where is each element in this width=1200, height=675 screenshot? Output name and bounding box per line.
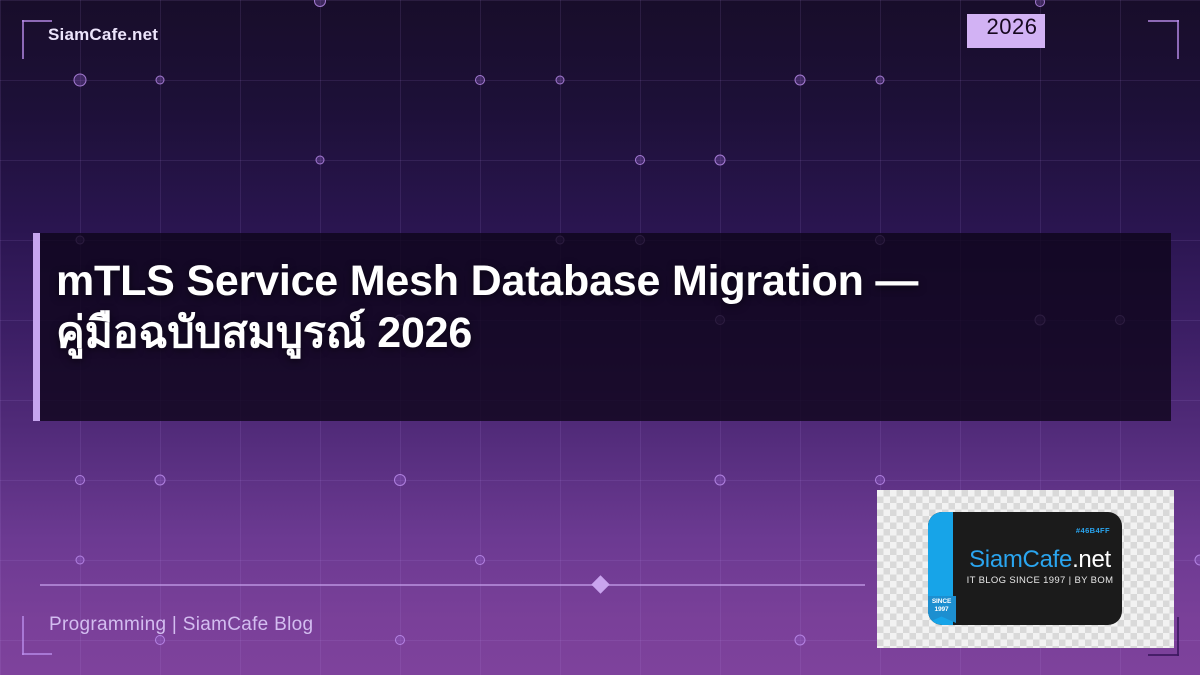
grid-node-dot — [715, 475, 726, 486]
footer-divider — [40, 584, 865, 586]
logo-tagline: IT BLOG SINCE 1997 | BY BOM — [961, 575, 1119, 586]
grid-node-dot — [475, 555, 485, 565]
logo-card: SINCE 1997 #46B4FF SiamCafe.net IT BLOG … — [877, 490, 1174, 648]
logo-wordmark-primary: SiamCafe — [969, 546, 1072, 573]
grid-node-dot — [715, 155, 726, 166]
grid-node-dot — [155, 475, 166, 486]
grid-node-dot — [475, 75, 485, 85]
brand-name: SiamCafe.net — [48, 25, 158, 45]
logo-hex-code: #46B4FF — [1076, 526, 1110, 535]
year-badge-label: 2026 — [987, 14, 1038, 40]
logo-inner-card: SINCE 1997 #46B4FF SiamCafe.net IT BLOG … — [928, 512, 1122, 625]
grid-node-dot — [156, 76, 165, 85]
grid-node-dot — [316, 156, 325, 165]
grid-node-dot — [795, 635, 806, 646]
grid-node-dot — [314, 0, 326, 7]
grid-node-dot — [876, 76, 885, 85]
grid-node-dot — [1035, 0, 1045, 7]
grid-node-dot — [635, 155, 645, 165]
grid-node-dot — [395, 635, 405, 645]
grid-node-dot — [1195, 555, 1200, 566]
grid-node-dot — [394, 474, 406, 486]
grid-node-dot — [795, 75, 806, 86]
grid-node-dot — [74, 74, 87, 87]
divider-diamond-icon — [591, 575, 609, 593]
grid-node-dot — [875, 475, 885, 485]
page-title: mTLS Service Mesh Database Migration — ค… — [56, 255, 1156, 359]
slide-canvas: SiamCafe.net 2026 mTLS Service Mesh Data… — [0, 0, 1200, 675]
grid-node-dot — [155, 635, 165, 645]
since-ribbon-line1: SINCE — [932, 598, 951, 606]
year-badge: 2026 — [967, 14, 1045, 48]
logo-wordmark-secondary: .net — [1072, 546, 1111, 573]
breadcrumb: Programming | SiamCafe Blog — [49, 614, 313, 636]
logo-wordmark: SiamCafe.net — [961, 547, 1119, 573]
grid-node-dot — [76, 556, 85, 565]
since-ribbon-line2: 1997 — [934, 606, 948, 614]
grid-node-dot — [556, 76, 565, 85]
grid-node-dot — [75, 475, 85, 485]
title-accent-bar — [33, 233, 40, 421]
